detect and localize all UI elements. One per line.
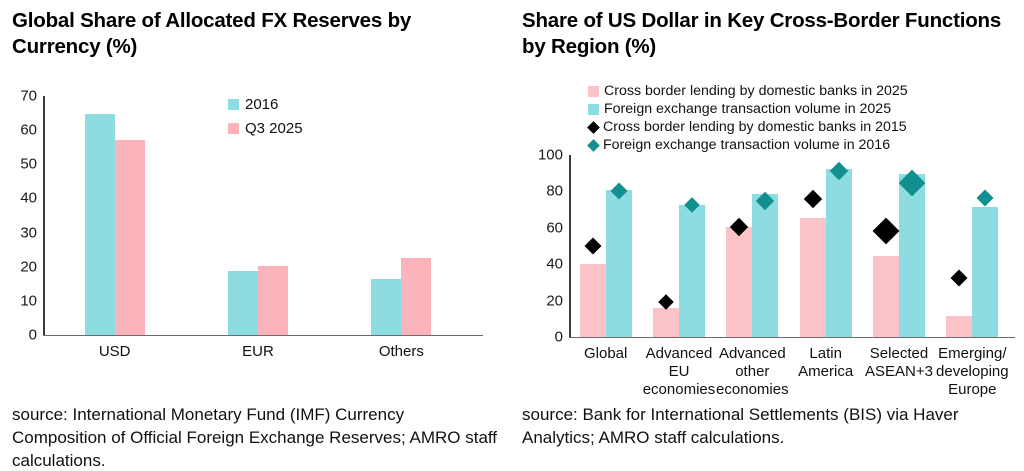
legend-right-label: Cross border lending by domestic banks i… (603, 119, 907, 135)
x-axis-category-label: USD (43, 343, 186, 361)
data-point-diamond-marker (803, 189, 821, 207)
x-axis-category-label: Selected ASEAN+3 (862, 345, 935, 381)
dual-chart-figure: Global Share of Allocated FX Reserves by… (0, 0, 1024, 471)
data-point-diamond-marker (584, 238, 601, 255)
bar (946, 316, 972, 337)
x-axis-category-label: Advanced other economies (716, 345, 789, 399)
legend-left-item: 2016 (228, 96, 303, 113)
y-axis-tick-label: 40 (523, 256, 563, 273)
legend-left-label: 2016 (245, 96, 278, 113)
data-point-diamond-marker (951, 269, 968, 286)
legend-left-label: Q3 2025 (245, 120, 303, 137)
y-axis-tick-label: 20 (0, 258, 37, 275)
right-chart-panel: Share of US Dollar in Key Cross-Border F… (512, 0, 1024, 471)
bar (826, 169, 852, 337)
y-axis-tick-label: 0 (523, 329, 563, 346)
y-axis-tick-label: 70 (0, 88, 37, 105)
bar (752, 194, 778, 337)
legend-square-swatch-icon (228, 99, 239, 110)
legend-right-item: Cross border lending by domestic banks i… (588, 83, 908, 99)
legend-right-item: Cross border lending by domestic banks i… (588, 119, 908, 135)
legend-left: 2016Q3 2025 (228, 96, 303, 144)
bar (115, 140, 145, 335)
x-axis-category-label: Advanced EU economies (642, 345, 715, 399)
bar (401, 258, 431, 335)
legend-right-label: Cross border lending by domestic banks i… (604, 83, 908, 99)
y-axis-tick-label: 30 (0, 224, 37, 241)
y-axis-tick-label: 80 (523, 183, 563, 200)
page-title-right: Share of US Dollar in Key Cross-Border F… (522, 8, 1022, 60)
x-axis-category-label: Others (330, 343, 473, 361)
bar (371, 279, 401, 335)
source-note-right: source: Bank for International Settlemen… (522, 403, 1022, 449)
bar (580, 264, 606, 337)
x-axis-line (569, 337, 1015, 338)
data-point-diamond-marker (873, 218, 900, 245)
bar (899, 174, 925, 337)
page-title-left: Global Share of Allocated FX Reserves by… (12, 8, 492, 60)
legend-square-swatch-icon (588, 104, 599, 115)
bar (679, 205, 705, 337)
bar (228, 271, 258, 335)
y-axis-tick-label: 100 (523, 147, 563, 164)
legend-right-label: Foreign exchange transaction volume in 2… (603, 137, 890, 153)
y-axis-tick-label: 20 (523, 292, 563, 309)
bar (653, 308, 679, 337)
y-axis-tick-label: 50 (0, 156, 37, 173)
y-axis-tick-label: 60 (523, 219, 563, 236)
source-note-left: source: International Monetary Fund (IMF… (12, 403, 502, 471)
bar (85, 114, 115, 335)
legend-diamond-marker-icon (587, 139, 600, 152)
bar (800, 218, 826, 337)
x-axis-category-label: Latin America (789, 345, 862, 381)
x-axis-line (43, 335, 483, 336)
legend-right-item: Foreign exchange transaction volume in 2… (588, 101, 908, 117)
y-axis-tick-label: 0 (0, 327, 37, 344)
x-axis-category-label: EUR (186, 343, 329, 361)
y-axis-line (569, 155, 571, 337)
legend-diamond-marker-icon (587, 121, 600, 134)
left-chart-panel: Global Share of Allocated FX Reserves by… (0, 0, 512, 471)
y-axis-line (43, 96, 45, 335)
bar (258, 266, 288, 335)
x-axis-category-label: Global (569, 345, 642, 363)
legend-square-swatch-icon (228, 123, 239, 134)
y-axis-tick-label: 60 (0, 122, 37, 139)
usd-share-bar-chart: 020406080100GlobalAdvanced EU economiesA… (569, 155, 1009, 337)
bar (606, 190, 632, 337)
bar (972, 207, 998, 337)
x-axis-category-label: Emerging/ developing Europe (936, 345, 1009, 399)
bar (873, 256, 899, 337)
y-axis-tick-label: 40 (0, 190, 37, 207)
data-point-diamond-marker (977, 189, 994, 206)
y-axis-tick-label: 10 (0, 292, 37, 309)
legend-right-label: Foreign exchange transaction volume in 2… (604, 101, 891, 117)
legend-right-item: Foreign exchange transaction volume in 2… (588, 137, 908, 153)
bar (726, 227, 752, 337)
legend-right: Cross border lending by domestic banks i… (588, 83, 908, 155)
legend-left-item: Q3 2025 (228, 120, 303, 137)
legend-square-swatch-icon (588, 86, 599, 97)
